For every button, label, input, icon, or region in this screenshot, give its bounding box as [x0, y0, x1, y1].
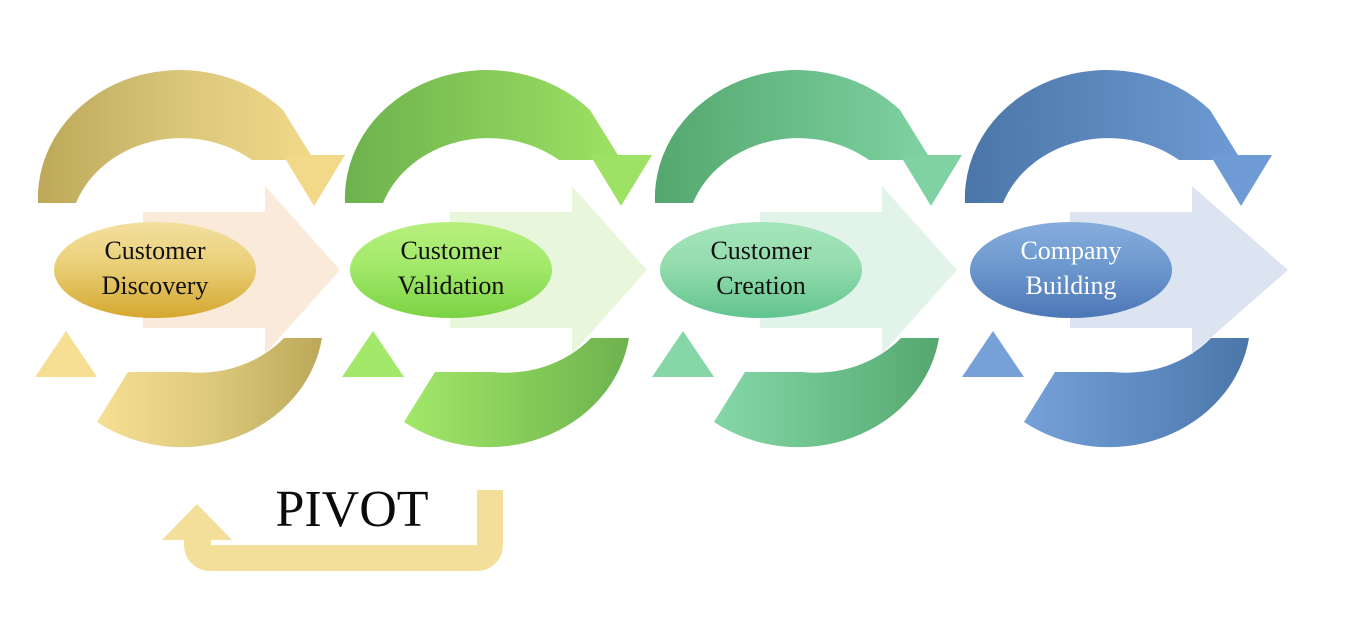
cycle-bottom-arrowhead-icon [342, 331, 404, 377]
stage-customer-discovery[interactable]: Customer Discovery [35, 70, 345, 447]
cycle-top-arrowhead-icon [900, 155, 962, 206]
stage-label-line1-customer-validation: Customer [400, 236, 501, 265]
stage-label-line2-customer-validation: Validation [398, 271, 505, 300]
stage-customer-validation[interactable]: Customer Validation [342, 70, 652, 447]
stage-company-building[interactable]: Company Building [962, 70, 1288, 447]
cycle-top-arc-icon [965, 70, 1241, 203]
customer-development-diagram: Customer Discovery Customer Validation C… [0, 0, 1358, 632]
pivot-label: PIVOT [275, 481, 428, 538]
cycle-bottom-arc-icon [97, 338, 322, 447]
cycle-top-arrowhead-icon [1210, 155, 1272, 206]
stage-label-line1-customer-creation: Customer [710, 236, 811, 265]
stage-label-line2-customer-creation: Creation [716, 271, 806, 300]
cycle-bottom-arrowhead-icon [652, 331, 714, 377]
pivot-arrowhead-icon [162, 504, 232, 540]
cycle-top-arc-icon [345, 70, 621, 203]
pivot-feedback-arrow[interactable]: PIVOT [162, 481, 503, 571]
stage-label-line1-company-building: Company [1020, 236, 1121, 265]
cycle-bottom-arrowhead-icon [35, 331, 97, 377]
cycle-top-arc-icon [655, 70, 931, 203]
cycle-top-arrowhead-icon [283, 155, 345, 206]
cycle-bottom-arc-icon [404, 338, 629, 447]
cycle-bottom-arc-icon [714, 338, 939, 447]
stage-customer-creation[interactable]: Customer Creation [652, 70, 962, 447]
stage-label-line2-customer-discovery: Discovery [102, 271, 209, 300]
stage-label-line2-company-building: Building [1025, 271, 1116, 300]
cycle-top-arc-icon [38, 70, 314, 203]
cycle-top-arrowhead-icon [590, 155, 652, 206]
stage-label-line1-customer-discovery: Customer [104, 236, 205, 265]
cycle-bottom-arrowhead-icon [962, 331, 1024, 377]
cycle-bottom-arc-icon [1024, 338, 1249, 447]
